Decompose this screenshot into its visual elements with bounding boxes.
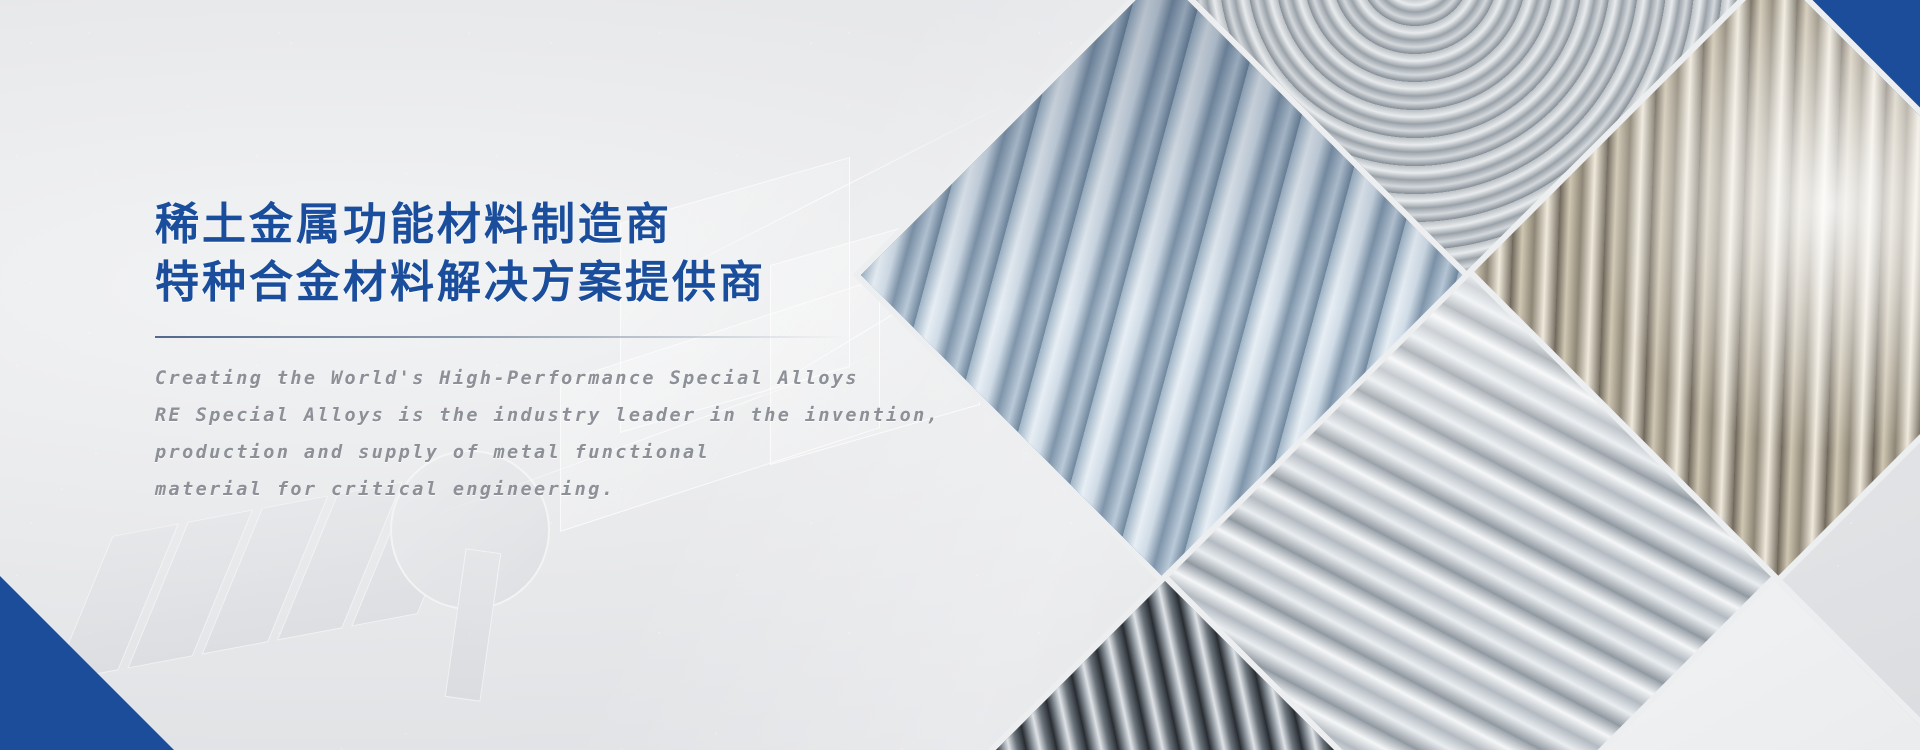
subtitle-line-4: material for critical engineering. [155,471,915,508]
page-title: 稀土金属功能材料制造商 特种合金材料解决方案提供商 [155,196,915,312]
hero-text-block: 稀土金属功能材料制造商 特种合金材料解决方案提供商 Creating the W… [155,196,915,508]
headline-line-2: 特种合金材料解决方案提供商 [155,254,915,312]
hero-subtitle: Creating the World's High-Performance Sp… [155,360,915,508]
subtitle-line-2: RE Special Alloys is the industry leader… [155,397,915,434]
title-divider [155,336,845,338]
subtitle-line-1: Creating the World's High-Performance Sp… [155,360,915,397]
subtitle-line-3: production and supply of metal functiona… [155,434,915,471]
hero-banner: 稀土金属功能材料制造商 特种合金材料解决方案提供商 Creating the W… [0,0,1920,750]
photo-collage [900,0,1920,750]
headline-line-1: 稀土金属功能材料制造商 [155,196,915,254]
